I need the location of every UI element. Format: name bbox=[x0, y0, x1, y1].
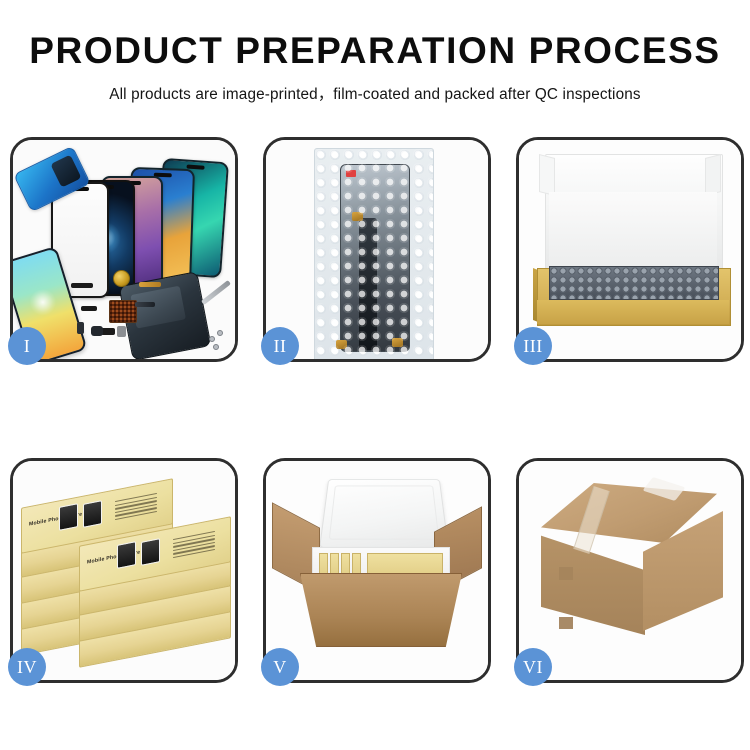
bubble-wrapped-contents bbox=[549, 266, 719, 300]
tape-tab bbox=[559, 617, 573, 629]
product-preparation-infographic: PRODUCT PREPARATION PROCESS All products… bbox=[0, 0, 750, 750]
carton-body bbox=[300, 573, 462, 647]
phones-and-parts-scene bbox=[13, 140, 235, 359]
process-step-card-6: VI bbox=[516, 458, 744, 683]
step-badge-5: V bbox=[261, 648, 299, 686]
step-badge-6: VI bbox=[514, 648, 552, 686]
sealed-carton-scene bbox=[519, 461, 741, 680]
foam-liner bbox=[549, 192, 717, 270]
lid-flap-left bbox=[539, 154, 555, 196]
flex-cable-part bbox=[135, 302, 155, 307]
box-print-phone-thumbnail bbox=[141, 538, 160, 566]
process-step-card-1: I bbox=[10, 137, 238, 362]
speaker-part bbox=[91, 326, 103, 336]
open-carton-with-foam-scene bbox=[266, 461, 488, 680]
carton-left-face bbox=[541, 527, 645, 635]
process-step-card-2: II bbox=[263, 137, 491, 362]
step-3-image bbox=[519, 140, 741, 359]
step-4-image: Mobile Phone Spare Parts Mobile Phone Sp… bbox=[13, 461, 235, 680]
box-stack: Mobile Phone Spare Parts Mobile Phone Sp… bbox=[15, 475, 235, 675]
step-2-image bbox=[266, 140, 488, 359]
process-step-card-3: III bbox=[516, 137, 744, 362]
step-5-image bbox=[266, 461, 488, 680]
step-1-image bbox=[13, 140, 235, 359]
bubble-wrapped-screen-scene bbox=[266, 140, 488, 359]
process-step-card-4: Mobile Phone Spare Parts Mobile Phone Sp… bbox=[10, 458, 238, 683]
header: PRODUCT PREPARATION PROCESS All products… bbox=[0, 0, 750, 104]
flex-cable-part bbox=[139, 282, 161, 287]
tape-tab bbox=[559, 567, 573, 580]
tweezers-tool bbox=[201, 280, 231, 305]
battery-connector-part bbox=[117, 326, 126, 337]
process-step-card-5: V bbox=[263, 458, 491, 683]
connector-part bbox=[81, 306, 97, 311]
screw-part bbox=[213, 344, 219, 350]
process-steps-grid: I II bbox=[10, 137, 740, 683]
lid-flap-right bbox=[705, 154, 721, 196]
stacked-retail-boxes-scene: Mobile Phone Spare Parts Mobile Phone Sp… bbox=[13, 461, 235, 680]
open-kraft-box-scene bbox=[519, 140, 741, 359]
box-print-phone-thumbnail bbox=[59, 503, 78, 531]
step-badge-1: I bbox=[8, 327, 46, 365]
step-badge-2: II bbox=[261, 327, 299, 365]
foam-box-lid bbox=[319, 479, 449, 548]
connector-part bbox=[77, 322, 84, 334]
page-subtitle: All products are image-printed，film-coat… bbox=[0, 82, 750, 104]
box-print-phone-thumbnail bbox=[117, 541, 136, 569]
step-badge-3: III bbox=[514, 327, 552, 365]
box-print-phone-thumbnail bbox=[83, 500, 102, 528]
box-front-panel bbox=[537, 300, 729, 324]
screw-part bbox=[217, 330, 223, 336]
page-title: PRODUCT PREPARATION PROCESS bbox=[0, 32, 750, 71]
step-badge-4: IV bbox=[8, 648, 46, 686]
shield-mesh-part bbox=[109, 300, 137, 323]
chip-part bbox=[71, 283, 93, 288]
bubble-wrap-overlay bbox=[314, 148, 432, 359]
chip-part bbox=[101, 328, 115, 335]
step-6-image bbox=[519, 461, 741, 680]
wireless-coil-part bbox=[113, 270, 130, 287]
screw-part bbox=[209, 336, 215, 342]
